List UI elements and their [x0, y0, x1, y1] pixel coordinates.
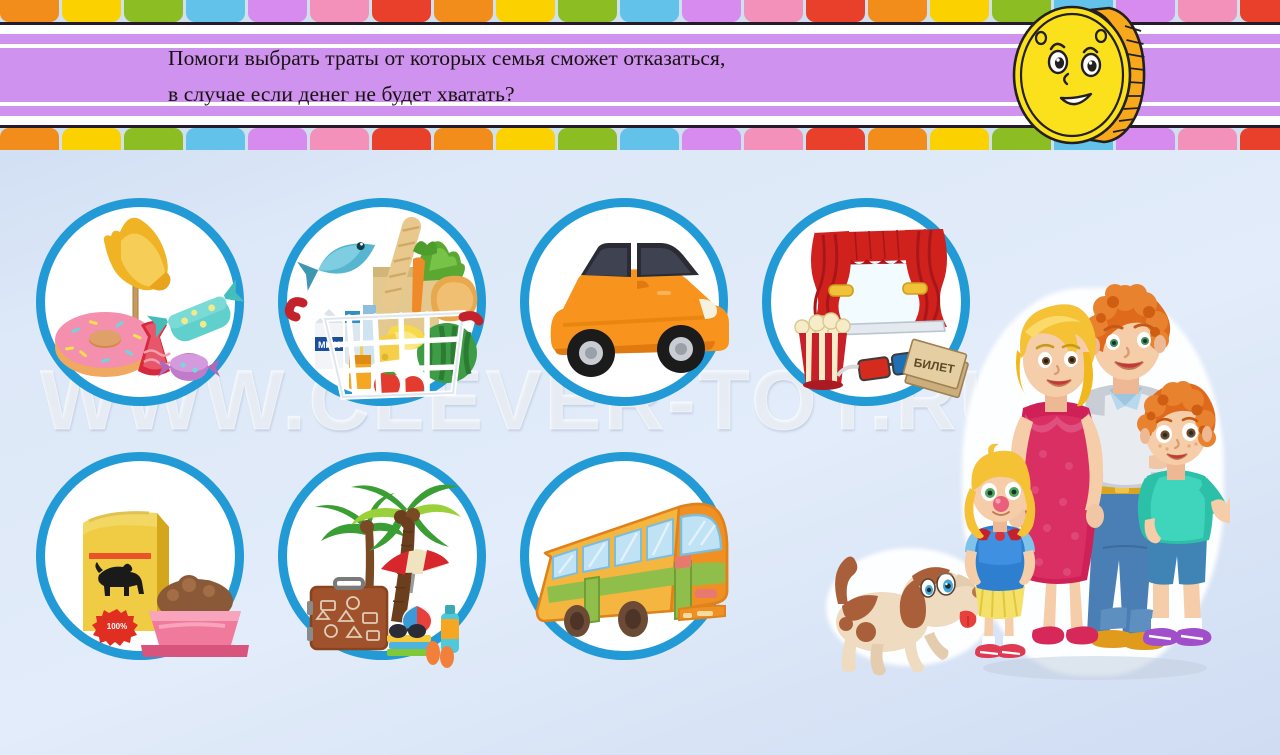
decor-tile — [124, 0, 183, 22]
daughter — [964, 444, 1035, 658]
decor-tile — [620, 128, 679, 150]
decor-tile — [124, 128, 183, 150]
decor-tile — [496, 0, 555, 22]
card-groceries[interactable]: MILK — [278, 198, 486, 406]
decor-tile — [682, 128, 741, 150]
decor-tile — [0, 0, 59, 22]
coin-mascot — [1005, 2, 1155, 148]
sweets-art — [45, 207, 235, 397]
decor-tile — [868, 0, 927, 22]
decor-tile — [806, 128, 865, 150]
decor-tile — [558, 128, 617, 150]
decor-tile — [186, 128, 245, 150]
percent-badge: 100% — [107, 622, 127, 631]
decor-tile — [868, 128, 927, 150]
worksheet-page: Помоги выбрать траты от которых семья см… — [0, 0, 1280, 755]
groceries-art: MILK — [287, 207, 477, 397]
decor-tile — [310, 0, 369, 22]
decor-tile — [434, 128, 493, 150]
decor-tile — [310, 128, 369, 150]
son — [1137, 381, 1230, 646]
decor-tile — [1178, 128, 1237, 150]
instruction-line-1: Помоги выбрать траты от которых семья см… — [168, 40, 958, 76]
decor-tile — [930, 128, 989, 150]
decor-tile — [930, 0, 989, 22]
decor-tile — [1178, 0, 1237, 22]
pet-food-art: 100% — [45, 461, 235, 651]
decor-tile — [1240, 128, 1280, 150]
car-art — [529, 207, 719, 397]
vacation-art — [287, 461, 477, 651]
instruction-line-2: в случае если денег не будет хватать? — [168, 76, 958, 112]
decor-tile — [744, 0, 803, 22]
decor-tile — [558, 0, 617, 22]
card-car[interactable] — [520, 198, 728, 406]
decor-tile — [186, 0, 245, 22]
decor-tile — [620, 0, 679, 22]
decor-tile — [372, 128, 431, 150]
decor-tile — [372, 0, 431, 22]
decor-tile — [744, 128, 803, 150]
decor-tile — [248, 128, 307, 150]
decor-tile — [806, 0, 865, 22]
decor-tile — [62, 0, 121, 22]
decor-tile — [496, 128, 555, 150]
decor-tile — [1240, 0, 1280, 22]
card-vacation[interactable] — [278, 452, 486, 660]
decor-tile — [248, 0, 307, 22]
decor-tile — [62, 128, 121, 150]
card-sweets[interactable] — [36, 198, 244, 406]
cinema-art: БИЛЕТ — [771, 207, 961, 397]
decor-tile — [434, 0, 493, 22]
decor-tile — [682, 0, 741, 22]
decor-tile — [0, 128, 59, 150]
card-cinema[interactable]: БИЛЕТ — [762, 198, 970, 406]
bus-art — [529, 461, 719, 651]
instruction-text: Помоги выбрать траты от которых семья см… — [168, 40, 958, 112]
card-pet-food[interactable]: 100% — [36, 452, 244, 660]
family-illustration — [955, 280, 1230, 680]
card-bus[interactable] — [520, 452, 728, 660]
